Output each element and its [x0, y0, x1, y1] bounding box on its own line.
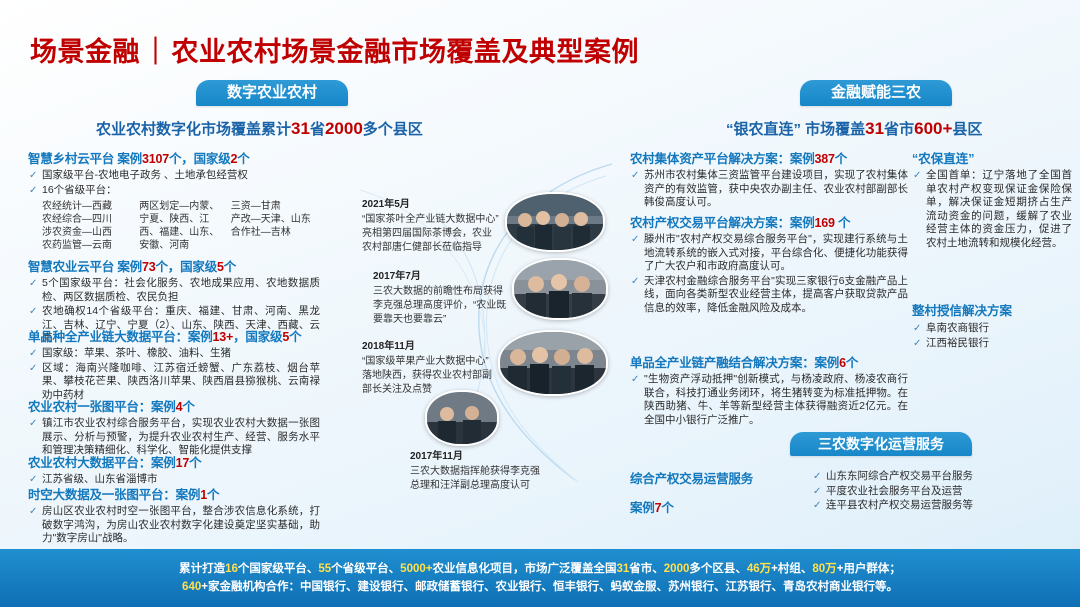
left-block-spatiotemporal: 时空大数据及一张图平台：案例1个 房山区农业农村时空一张图平台，整合涉农信息化系…	[28, 484, 320, 547]
slide-root: 场景金融｜农业农村场景金融市场覆盖及典型案例 数字农业农村 农业农村数字化市场覆…	[0, 0, 1080, 607]
right-headline-stat-provinces: 31	[865, 119, 884, 138]
title-subtitle: 农业农村场景金融市场覆盖及典型案例	[172, 37, 640, 67]
right-block-property-exchange-title: 农村产权交易平台解决方案：案例169 个	[630, 212, 908, 231]
footer-text: 个国家级平台、	[238, 563, 319, 575]
footer-text: 省市、	[629, 563, 664, 575]
ops-items: 山东东阿综合产权交易平台服务 平度农业社会服务平台及运营 连平县农村产权交易运营…	[812, 470, 1062, 514]
right-headline-pre: “银农直连” 市场覆盖	[726, 121, 865, 138]
footer-line-2: 640+家金融机构合作：中国银行、建设银行、邮政储蓄银行、农业银行、恒丰银行、蚂…	[182, 578, 898, 596]
list-item: 全国首单：辽宁落地了全国首单农村产权变现保证金保险保单，解决保证金短期挤占生产流…	[912, 169, 1072, 250]
side-block-village-credit-title: 整村授信解决方案	[912, 300, 1072, 319]
right-block-collective-assets-list: 苏州市农村集体三资监管平台建设项目，实现了农村集体资产的有效监管，获中央农办副主…	[630, 169, 908, 210]
timeline-body: 三农大数据的前瞻性布局获得李克强总理高度评价，“农业既要靠天也要靠云”	[373, 286, 506, 325]
timeline-date: 2017年11月	[410, 450, 548, 464]
list-item: 山东东阿综合产权交易平台服务	[812, 470, 1062, 484]
timeline-caption-2021-05: 2021年5月 “国家茶叶全产业链大数据中心” 亮相第四届国际茶博会，农业农村部…	[362, 198, 500, 255]
list-item: 16个省级平台：	[28, 184, 320, 198]
photo-tea-expo	[505, 192, 605, 252]
footer-text: 累计打造	[179, 563, 225, 575]
right-headline-mid: 省市	[884, 121, 914, 138]
footer-text: 农业信息化项目，市场广泛覆盖全国	[432, 563, 616, 575]
list-item: 房山区农业农村时空一张图平台，整合涉农信息化系统，打破数字鸿沟，为房山农业农村数…	[28, 505, 320, 546]
list-item: 国家级：苹果、茶叶、橡胶、油料、生猪	[28, 347, 320, 361]
left-headline-mid: 省	[310, 121, 325, 138]
right-block-industry-finance-title: 单品全产业链产融结合解决方案：案例6个	[630, 352, 908, 371]
footer-stat: 31	[616, 563, 629, 575]
left-block-smart-village-title: 智慧乡村云平台 案例3107个，国家级2个	[28, 148, 320, 167]
footer-line-1: 累计打造16个国家级平台、55个省级平台、5000+农业信息化项目，市场广泛覆盖…	[179, 560, 901, 578]
title-main: 场景金融	[30, 37, 140, 67]
left-column-headline: 农业农村数字化市场覆盖累计31省2000多个县区	[96, 118, 423, 139]
list-item: 天津农村金融综合服务平台"实现三家银行6支金融产品上线，面向各类新型农业经营主体…	[630, 275, 908, 316]
ops-left-title-line2: 案例7个	[630, 497, 790, 516]
list-item: 平度农业社会服务平台及运营	[812, 485, 1062, 499]
footer-text: 多个区县、	[689, 563, 747, 575]
title-separator: ｜	[140, 37, 172, 67]
left-headline-pre: 农业农村数字化市场覆盖累计	[96, 121, 291, 138]
left-block-smart-farming-title: 智慧农业云平台 案例73个，国家级5个	[28, 256, 320, 275]
ops-left-title: 综合产权交易运营服务 案例7个	[630, 468, 790, 518]
photo-command-cabin	[425, 390, 499, 446]
footer-stat: 2000	[664, 563, 690, 575]
timeline-body: “国家级苹果产业大数据中心” 落地陕西，获得农业农村部副部长关注及点赞	[362, 356, 492, 395]
left-headline-tail: 多个县区	[363, 121, 423, 138]
list-item: 国家级平台-农地电子政务 、土地承包经营权	[28, 169, 320, 183]
right-headline-stat-counties: 600+	[914, 119, 952, 138]
photo-premier-visit	[512, 258, 608, 320]
footer-stat: 46万	[747, 563, 771, 575]
left-block-spatiotemporal-title: 时空大数据及一张图平台：案例1个	[28, 484, 320, 503]
section-badge-digital-operations: 三农数字化运营服务	[790, 432, 972, 456]
left-block-single-crop-chain: 单品种全产业链大数据平台：案例13+，国家级5个 国家级：苹果、茶叶、橡胶、油料…	[28, 326, 320, 403]
list-item: 5个国家级平台：社会化服务、农地成果应用、农地数据质检、两区数据质检、农民负担	[28, 277, 320, 304]
timeline-date: 2021年5月	[362, 198, 500, 212]
list-item: "生物资产浮动抵押"创新模式，与杨凌政府、杨凌农商行联合，科技打通业务闭环，将生…	[630, 373, 908, 427]
left-block-one-map-title: 农业农村一张图平台：案例4个	[28, 396, 320, 415]
page-title: 场景金融｜农业农村场景金融市场覆盖及典型案例	[30, 30, 639, 69]
timeline-date: 2018年11月	[362, 340, 500, 354]
left-block-spatiotemporal-list: 房山区农业农村时空一张图平台，整合涉农信息化系统，打破数字鸿沟，为房山农业农村数…	[28, 505, 320, 546]
left-headline-stat-provinces: 31	[291, 119, 310, 138]
footer-stat: 16	[225, 563, 238, 575]
right-column-headline: “银农直连” 市场覆盖31省市600+县区	[726, 118, 982, 139]
photo-apple-center	[498, 330, 608, 396]
province-table: 农经统计—西藏 农经综合—四川 涉农资金—山西 农药监管—云南 两区划定—内蒙、…	[28, 200, 320, 252]
left-block-single-crop-chain-list: 国家级：苹果、茶叶、橡胶、油料、生猪 区域：海南兴隆咖啡、江苏宿迁螃蟹、广东荔枝…	[28, 347, 320, 402]
right-block-property-exchange: 农村产权交易平台解决方案：案例169 个 滕州市"农村产权交易综合服务平台"，实…	[630, 212, 908, 316]
photo-tea-expo-image	[507, 194, 603, 250]
footer-text: +村组、	[771, 563, 812, 575]
list-item: 连平县农村产权交易运营服务等	[812, 499, 1062, 513]
side-block-insurance-direct-title: “农保直连”	[912, 148, 1072, 167]
side-block-village-credit-list: 阜南农商银行 江西裕民银行	[912, 322, 1072, 350]
footer-text: +用户群体；	[837, 563, 901, 575]
footer-institution-list: +家金融机构合作：中国银行、建设银行、邮政储蓄银行、农业银行、恒丰银行、蚂蚁金服…	[201, 581, 898, 593]
list-item: 江西裕民银行	[912, 337, 1072, 351]
side-block-insurance-direct-list: 全国首单：辽宁落地了全国首单农村产权变现保证金保险保单，解决保证金短期挤占生产流…	[912, 169, 1072, 250]
side-block-insurance-direct: “农保直连” 全国首单：辽宁落地了全国首单农村产权变现保证金保险保单，解决保证金…	[912, 148, 1072, 251]
photo-apple-center-image	[500, 332, 606, 394]
province-table-col-1: 农经统计—西藏 农经综合—四川 涉农资金—山西 农药监管—云南	[42, 200, 131, 252]
timeline-body: 三农大数据指挥舱获得李克强总理和汪洋副总理高度认可	[410, 466, 540, 491]
footer-stat: 5000+	[400, 563, 432, 575]
list-item: 滕州市"农村产权交易综合服务平台"，实现建行系统与土地流转系统的嵌入式对接，平台…	[630, 233, 908, 274]
left-block-smart-village: 智慧乡村云平台 案例3107个，国家级2个 国家级平台-农地电子政务 、土地承包…	[28, 148, 320, 252]
photo-premier-visit-image	[514, 260, 606, 318]
left-block-smart-village-list: 国家级平台-农地电子政务 、土地承包经营权 16个省级平台：	[28, 169, 320, 197]
photo-command-cabin-image	[427, 392, 497, 444]
right-block-collective-assets-title: 农村集体资产平台解决方案：案例387个	[630, 148, 908, 167]
left-block-single-crop-chain-title: 单品种全产业链大数据平台：案例13+，国家级5个	[28, 326, 320, 345]
right-block-collective-assets: 农村集体资产平台解决方案：案例387个 苏州市农村集体三资监管平台建设项目，实现…	[630, 148, 908, 211]
left-block-bigdata-title: 农业农村大数据平台：案例17个	[28, 452, 320, 471]
timeline-date: 2017年7月	[373, 270, 511, 284]
timeline-caption-2017-07: 2017年7月 三农大数据的前瞻性布局获得李克强总理高度评价，“农业既要靠天也要…	[373, 270, 511, 327]
timeline-body: “国家茶叶全产业链大数据中心” 亮相第四届国际茶博会，农业农村部唐仁健部长莅临指…	[362, 214, 499, 253]
province-table-col-3: 三资—甘肃 产改—天津、山东 合作社—吉林	[231, 200, 320, 252]
timeline-caption-2017-11: 2017年11月 三农大数据指挥舱获得李克强总理和汪洋副总理高度认可	[410, 450, 548, 493]
list-item: 阜南农商银行	[912, 322, 1072, 336]
footer-text: 个省级平台、	[331, 563, 400, 575]
timeline-caption-2018-11: 2018年11月 “国家级苹果产业大数据中心” 落地陕西，获得农业农村部副部长关…	[362, 340, 500, 397]
footer-institution-count: 640	[182, 581, 201, 593]
right-block-property-exchange-list: 滕州市"农村产权交易综合服务平台"，实现建行系统与土地流转系统的嵌入式对接，平台…	[630, 233, 908, 315]
footer-stat: 55	[318, 563, 331, 575]
footer-stat: 80万	[812, 563, 836, 575]
right-block-industry-finance: 单品全产业链产融结合解决方案：案例6个 "生物资产浮动抵押"创新模式，与杨凌政府…	[630, 352, 908, 428]
section-badge-finance-empowerment: 金融赋能三农	[800, 80, 952, 106]
list-item: 苏州市农村集体三资监管平台建设项目，实现了农村集体资产的有效监管，获中央农办副主…	[630, 169, 908, 210]
right-headline-tail: 县区	[952, 121, 982, 138]
province-table-col-2: 两区划定—内蒙、 宁夏、陕西、江 西、福建、山东、 安徽、河南	[139, 200, 222, 252]
left-block-bigdata: 农业农村大数据平台：案例17个 江苏省级、山东省淄博市	[28, 452, 320, 488]
right-block-industry-finance-list: "生物资产浮动抵押"创新模式，与杨凌政府、杨凌农商行联合，科技打通业务闭环，将生…	[630, 373, 908, 427]
ops-items-list: 山东东阿综合产权交易平台服务 平度农业社会服务平台及运营 连平县农村产权交易运营…	[812, 470, 1062, 513]
section-badge-digital-agriculture: 数字农业农村	[196, 80, 348, 106]
left-headline-stat-counties: 2000	[325, 119, 363, 138]
footer-summary-bar: 累计打造16个国家级平台、55个省级平台、5000+农业信息化项目，市场广泛覆盖…	[0, 549, 1080, 607]
ops-left-title-line1: 综合产权交易运营服务	[630, 468, 790, 487]
side-block-village-credit: 整村授信解决方案 阜南农商银行 江西裕民银行	[912, 300, 1072, 351]
left-block-one-map: 农业农村一张图平台：案例4个 镇江市农业农村综合服务平台，实现农业农村大数据一张…	[28, 396, 320, 459]
